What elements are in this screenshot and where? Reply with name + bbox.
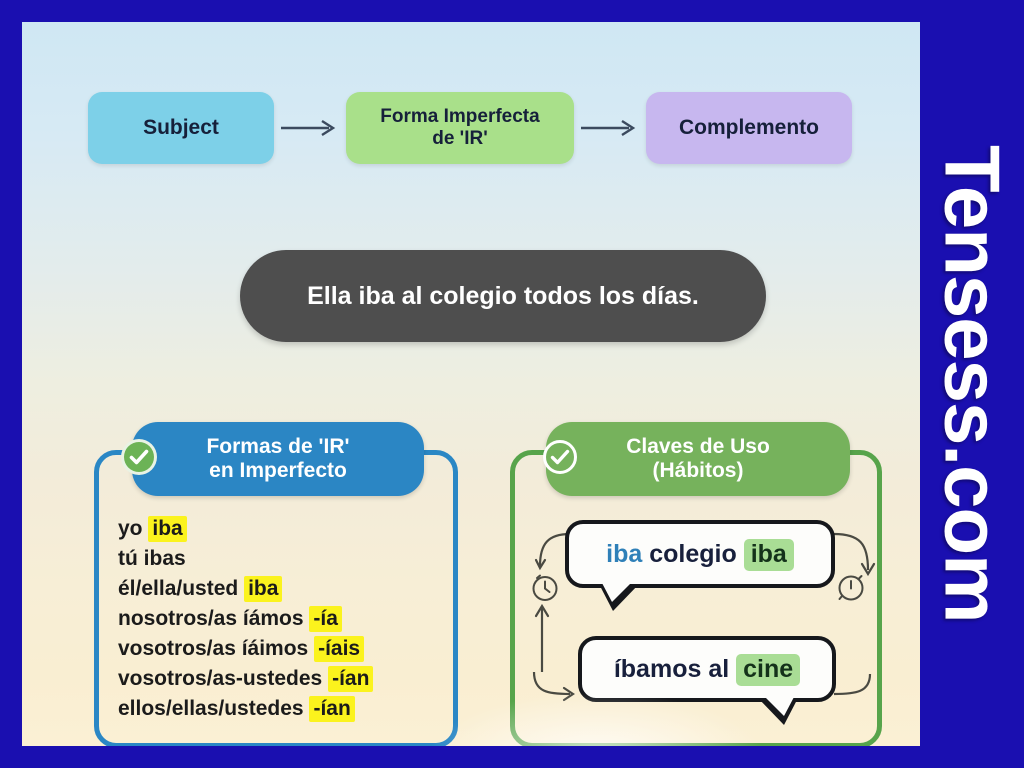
card-usage-keys-header: Claves de Uso (Hábitos) — [546, 422, 850, 496]
card-verb-forms-title: Formas de 'IR' en Imperfecto — [206, 435, 349, 484]
example-sentence-pill: Ella iba al colegio todos los días. — [240, 250, 766, 342]
verb-form-line-1: Forma Imperfecta — [380, 106, 539, 127]
flow-arrow-2 — [574, 119, 646, 137]
card-usage-keys-title: Claves de Uso (Hábitos) — [626, 435, 770, 484]
bubble-tail-inner — [765, 697, 794, 716]
conjugation-pronoun: vosotros/as íáimos — [118, 637, 308, 660]
arrow-right-icon — [279, 119, 341, 137]
site-watermark: Tensess.com — [920, 0, 1024, 768]
content-canvas: Subject Forma Imperfecta de 'IR' — [22, 22, 920, 746]
flow-chip-verb-form: Forma Imperfecta de 'IR' — [346, 92, 574, 164]
site-watermark-text: Tensess.com — [927, 145, 1018, 622]
flow-chip-verb-form-label: Forma Imperfecta de 'IR' — [380, 106, 539, 150]
conjugation-form: ibas — [144, 547, 186, 570]
flow-chip-subject-label: Subject — [143, 116, 219, 140]
list-item: ellos/ellas/ustedes -ían — [118, 698, 458, 719]
list-item: vosotros/as-ustedes -ían — [118, 668, 458, 689]
conjugation-list: yo iba tú ibas él/ella/usted iba nosotro… — [118, 518, 458, 728]
check-circle-icon — [119, 437, 159, 477]
example-bubble-1-text: iba colegio iba — [606, 540, 794, 569]
list-item: tú ibas — [118, 548, 458, 569]
bubble-2-word-1: íbamos al — [614, 655, 729, 683]
verb-form-line-2: de 'IR' — [432, 128, 488, 149]
usage-keys-title-line-2: (Hábitos) — [652, 459, 743, 482]
conjugation-pronoun: tú — [118, 547, 138, 570]
conjugation-form: iba — [148, 516, 186, 542]
sentence-structure-flow: Subject Forma Imperfecta de 'IR' — [88, 82, 878, 174]
conjugation-pronoun: él/ella/usted — [118, 577, 238, 600]
list-item: yo iba — [118, 518, 458, 539]
example-bubble-2: íbamos al cine — [578, 636, 836, 702]
conjugation-form: -ían — [309, 696, 354, 722]
bubble-2-word-2: cine — [736, 654, 800, 686]
bubble-1-word-3: iba — [744, 539, 794, 571]
conjugation-form: -ía — [309, 606, 342, 632]
conjugation-pronoun: vosotros/as-ustedes — [118, 667, 322, 690]
stopwatch-icon — [528, 570, 562, 609]
example-sentence-text: Ella iba al colegio todos los días. — [307, 282, 699, 311]
infographic-root: Subject Forma Imperfecta de 'IR' — [0, 0, 1024, 768]
verb-forms-title-line-1: Formas de 'IR' — [206, 435, 349, 458]
conjugation-form: -ían — [328, 666, 373, 692]
conjugation-form: iba — [244, 576, 282, 602]
conjugation-form: -íais — [314, 636, 364, 662]
bubble-1-word-1: iba — [606, 540, 642, 568]
alarm-clock-icon — [834, 570, 868, 609]
list-item: nosotros/as íámos -ía — [118, 608, 458, 629]
bubble-1-word-2: colegio — [649, 540, 737, 568]
check-circle-icon — [540, 437, 580, 477]
verb-forms-title-line-2: en Imperfecto — [209, 459, 347, 482]
flow-arrow-1 — [274, 119, 346, 137]
flow-chip-complement: Complemento — [646, 92, 852, 164]
arrow-right-icon — [579, 119, 641, 137]
flow-chip-complement-label: Complemento — [679, 116, 819, 140]
conjugation-pronoun: ellos/ellas/ustedes — [118, 697, 304, 720]
list-item: vosotros/as íáimos -íais — [118, 638, 458, 659]
example-bubble-1: iba colegio iba — [565, 520, 835, 588]
bubble-tail-inner — [602, 583, 631, 602]
example-bubble-2-text: íbamos al cine — [614, 655, 800, 684]
usage-keys-title-line-1: Claves de Uso — [626, 435, 770, 458]
conjugation-pronoun: nosotros/as íámos — [118, 607, 304, 630]
list-item: él/ella/usted iba — [118, 578, 458, 599]
flow-chip-subject: Subject — [88, 92, 274, 164]
card-verb-forms-header: Formas de 'IR' en Imperfecto — [132, 422, 424, 496]
conjugation-pronoun: yo — [118, 517, 143, 540]
